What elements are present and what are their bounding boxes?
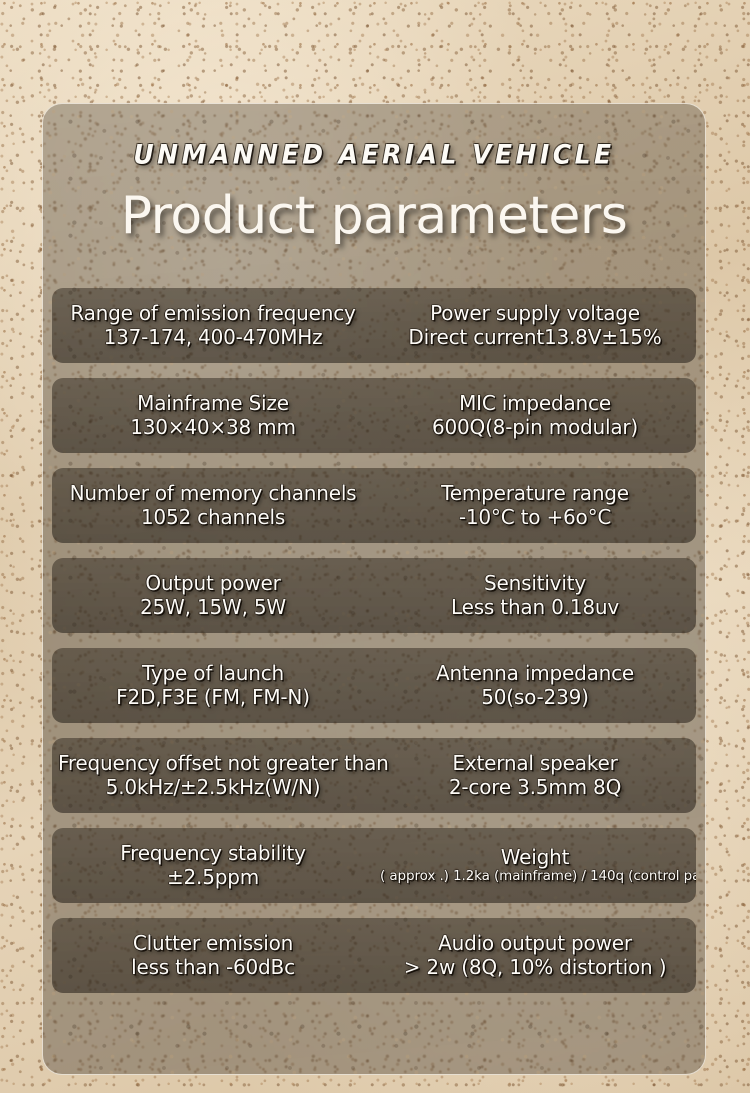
- spec-value: Direct current13.8V±15%: [380, 326, 690, 348]
- spec-cell-left: Type of launch F2D,F3E (FM, FM-N): [52, 662, 374, 708]
- spec-cell-left: Frequency stability ±2.5ppm: [52, 842, 374, 888]
- spec-value: 25W, 15W, 5W: [58, 596, 368, 618]
- spec-value: 137-174, 400-470MHz: [58, 326, 368, 348]
- spec-value: 2-core 3.5mm 8Q: [380, 776, 690, 798]
- spec-cell-left: Number of memory channels 1052 channels: [52, 482, 374, 528]
- spec-cell-right: Weight ( approx .) 1.2ka (mainframe) / 1…: [374, 846, 696, 885]
- table-row: Type of launch F2D,F3E (FM, FM-N) Antenn…: [52, 648, 696, 723]
- table-row: Output power 25W, 15W, 5W Sensitivity Le…: [52, 558, 696, 633]
- spec-value: Less than 0.18uv: [380, 596, 690, 618]
- spec-label: Frequency offset not greater than: [58, 752, 368, 774]
- spec-value: 50(so-239): [380, 686, 690, 708]
- spec-value: 1052 channels: [58, 506, 368, 528]
- spec-cell-left: Output power 25W, 15W, 5W: [52, 572, 374, 618]
- spec-label: Range of emission frequency: [58, 302, 368, 324]
- table-row: Frequency offset not greater than 5.0kHz…: [52, 738, 696, 813]
- spec-value: -10°C to +6o°C: [380, 506, 690, 528]
- spec-value: > 2w (8Q, 10% distortion ): [380, 956, 690, 978]
- spec-label: Antenna impedance: [380, 662, 690, 684]
- spec-label: Sensitivity: [380, 572, 690, 594]
- spec-label: Number of memory channels: [58, 482, 368, 504]
- spec-label: Audio output power: [380, 932, 690, 954]
- spec-label: External speaker: [380, 752, 690, 774]
- product-parameters-page: { "header": { "eyebrow": "UNMANNED AERIA…: [0, 0, 750, 1093]
- spec-label: Power supply voltage: [380, 302, 690, 324]
- spec-cell-right: MIC impedance 600Q(8-pin modular): [374, 392, 696, 438]
- spec-label: Frequency stability: [58, 842, 368, 864]
- page-title: Product parameters: [43, 189, 705, 244]
- spec-value: ( approx .) 1.2ka (mainframe) / 140q (co…: [380, 869, 690, 884]
- spec-cell-left: Range of emission frequency 137-174, 400…: [52, 302, 374, 348]
- spec-cell-left: Mainframe Size 130×40×38 mm: [52, 392, 374, 438]
- spec-value: ±2.5ppm: [58, 866, 368, 888]
- spec-value: 5.0kHz/±2.5kHz(W/N): [58, 776, 368, 798]
- parameter-list: Range of emission frequency 137-174, 400…: [43, 288, 705, 993]
- table-row: Clutter emission less than -60dBc Audio …: [52, 918, 696, 993]
- spec-cell-right: Power supply voltage Direct current13.8V…: [374, 302, 696, 348]
- eyebrow-heading: UNMANNED AERIAL VEHICLE: [43, 139, 705, 170]
- spec-cell-left: Frequency offset not greater than 5.0kHz…: [52, 752, 374, 798]
- spec-label: Type of launch: [58, 662, 368, 684]
- spec-label: Weight: [380, 846, 690, 868]
- spec-cell-right: Temperature range -10°C to +6o°C: [374, 482, 696, 528]
- spec-cell-right: Antenna impedance 50(so-239): [374, 662, 696, 708]
- table-row: Range of emission frequency 137-174, 400…: [52, 288, 696, 363]
- table-row: Mainframe Size 130×40×38 mm MIC impedanc…: [52, 378, 696, 453]
- spec-label: Temperature range: [380, 482, 690, 504]
- spec-label: MIC impedance: [380, 392, 690, 414]
- spec-panel: UNMANNED AERIAL VEHICLE Product paramete…: [42, 103, 706, 1075]
- spec-value: 130×40×38 mm: [58, 416, 368, 438]
- spec-cell-right: Sensitivity Less than 0.18uv: [374, 572, 696, 618]
- spec-label: Mainframe Size: [58, 392, 368, 414]
- spec-label: Output power: [58, 572, 368, 594]
- spec-label: Clutter emission: [58, 932, 368, 954]
- table-row: Frequency stability ±2.5ppm Weight ( app…: [52, 828, 696, 903]
- spec-cell-right: External speaker 2-core 3.5mm 8Q: [374, 752, 696, 798]
- spec-cell-right: Audio output power > 2w (8Q, 10% distort…: [374, 932, 696, 978]
- spec-value: less than -60dBc: [58, 956, 368, 978]
- table-row: Number of memory channels 1052 channels …: [52, 468, 696, 543]
- spec-cell-left: Clutter emission less than -60dBc: [52, 932, 374, 978]
- spec-value: F2D,F3E (FM, FM-N): [58, 686, 368, 708]
- spec-value: 600Q(8-pin modular): [380, 416, 690, 438]
